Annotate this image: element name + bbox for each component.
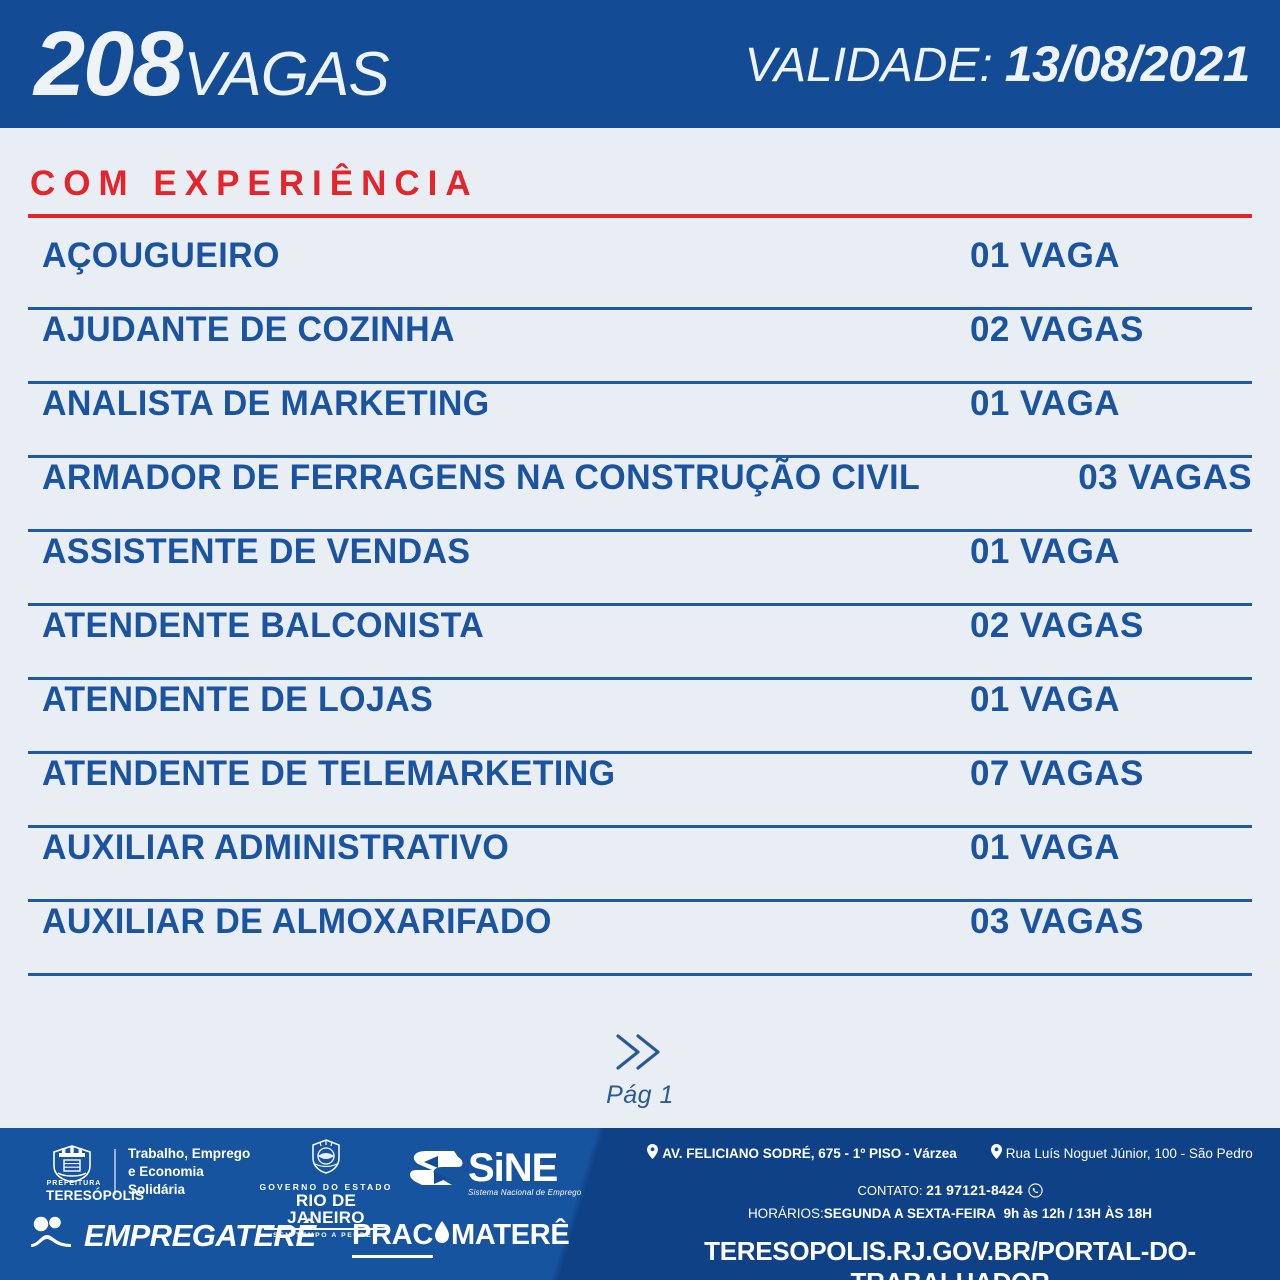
vacancy-job-title: ARMADOR DE FERRAGENS NA CONSTRUÇÃO CIVIL xyxy=(42,458,920,498)
vacancy-row: ANALISTA DE MARKETING01 VAGA xyxy=(28,384,1252,458)
vacancy-row: ASSISTENTE DE VENDAS01 VAGA xyxy=(28,532,1252,606)
address-item-2: Rua Luís Noguet Júnior, 100 - São Pedro xyxy=(991,1144,1253,1162)
contact-number: 21 97121-8424 xyxy=(926,1182,1023,1198)
footer-contact: AV. FELICIANO SODRÉ, 675 - 1º PISO - Vár… xyxy=(620,1128,1280,1280)
department-line-3: Solidária xyxy=(128,1181,250,1199)
hours-times: 9h às 12h / 13H ÀS 18H xyxy=(1003,1206,1152,1221)
practimatere-wordmark: PRAC MATERÊ xyxy=(352,1218,569,1258)
vacancy-count-column: 07 VAGAS xyxy=(952,754,1252,794)
empregatere-mountain-icon xyxy=(28,1216,74,1255)
vacancy-row: ATENDENTE BALCONISTA02 VAGAS xyxy=(28,606,1252,680)
whatsapp-icon[interactable] xyxy=(1028,1186,1043,1201)
vacancy-job-title: ANALISTA DE MARKETING xyxy=(42,384,490,424)
footer-logos: PREFEITURA TERESÓPOLIS Trabalho, Emprego… xyxy=(0,1128,600,1280)
practimatere-brand-group: PRAC MATERÊ xyxy=(352,1218,569,1258)
vacancy-count-column: 02 VAGAS xyxy=(952,310,1252,350)
hours-row: HORÁRIOS:SEGUNDA A SEXTA-FEIRA 9h às 12h… xyxy=(620,1206,1280,1221)
vacancy-count-suffix: VAGAS xyxy=(184,44,389,106)
vacancy-job-title: AUXILIAR DE ALMOXARIFADO xyxy=(42,902,552,942)
sine-word: SiNE xyxy=(468,1148,581,1188)
vacancy-count-column: 03 VAGAS xyxy=(1060,458,1252,498)
vacancy-count-column: 01 VAGA xyxy=(952,680,1252,720)
location-pin-icon xyxy=(647,1144,658,1162)
vacancy-count-value: 01 VAGA xyxy=(952,680,1120,719)
vacancy-count-value: 07 VAGAS xyxy=(952,754,1144,793)
vacancy-job-title: AJUDANTE DE COZINHA xyxy=(42,310,455,350)
validity-date: 13/08/2021 xyxy=(1005,39,1250,89)
vacancy-count-value: 03 VAGAS xyxy=(952,902,1144,941)
vacancy-count: 208 xyxy=(34,18,182,110)
vacancy-row: ATENDENTE DE TELEMARKETING07 VAGAS xyxy=(28,754,1252,828)
sine-wordmark: SiNE Sistema Nacional de Emprego xyxy=(468,1148,581,1197)
vacancy-job-title: ATENDENTE DE LOJAS xyxy=(42,680,433,720)
vacancy-row: AÇOUGUEIRO01 VAGA xyxy=(28,236,1252,310)
address-item-1: AV. FELICIANO SODRÉ, 675 - 1º PISO - Vár… xyxy=(647,1144,957,1162)
vacancy-count-value: 02 VAGAS xyxy=(952,310,1144,349)
vacancy-count-value: 03 VAGAS xyxy=(1060,458,1252,497)
double-chevron-right-icon[interactable] xyxy=(608,1030,672,1079)
address-text-1: AV. FELICIANO SODRÉ, 675 - 1º PISO - Vár… xyxy=(662,1146,957,1161)
prefeitura-brand-group: PREFEITURA TERESÓPOLIS Trabalho, Emprego… xyxy=(46,1140,250,1204)
section-title: COM EXPERIÊNCIA xyxy=(28,164,1252,204)
vacancy-count-value: 02 VAGAS xyxy=(952,606,1144,645)
prefeitura-city-label: TERESÓPOLIS xyxy=(46,1188,102,1203)
department-line-2: e Economia xyxy=(128,1163,250,1181)
rio-de-janeiro-coat-of-arms-icon xyxy=(258,1138,394,1181)
practimatere-part-2: MATERÊ xyxy=(451,1219,570,1252)
poster-content: COM EXPERIÊNCIA AÇOUGUEIRO01 VAGAAJUDANT… xyxy=(0,128,1280,1128)
vacancy-count-column: 01 VAGA xyxy=(952,236,1252,276)
prefeitura-caption: PREFEITURA TERESÓPOLIS xyxy=(46,1180,102,1203)
vacancy-count-value: 01 VAGA xyxy=(952,236,1120,275)
vacancy-count-value: 01 VAGA xyxy=(952,828,1120,867)
vacancy-row: AUXILIAR DE ALMOXARIFADO03 VAGAS xyxy=(28,902,1252,976)
vacancy-poster: 208 VAGAS VALIDADE: 13/08/2021 COM EXPER… xyxy=(0,0,1280,1280)
contact-row: CONTATO: 21 97121-8424 xyxy=(620,1180,1280,1198)
vacancy-row: ARMADOR DE FERRAGENS NA CONSTRUÇÃO CIVIL… xyxy=(28,458,1252,532)
page-label: Pág 1 xyxy=(606,1081,674,1110)
vacancy-count-column: 01 VAGA xyxy=(952,532,1252,572)
water-droplet-icon xyxy=(434,1220,450,1254)
sine-brand-group: SiNE Sistema Nacional de Emprego xyxy=(408,1148,581,1197)
vacancy-job-title: ATENDENTE BALCONISTA xyxy=(42,606,484,646)
contact-label: CONTATO: xyxy=(857,1183,922,1198)
vacancy-job-title: AUXILIAR ADMINISTRATIVO xyxy=(42,828,509,868)
poster-footer: PREFEITURA TERESÓPOLIS Trabalho, Emprego… xyxy=(0,1128,1280,1280)
vacancy-count-column: 01 VAGA xyxy=(952,384,1252,424)
practimatere-part-1: PRAC xyxy=(352,1219,433,1258)
vacancy-row: AUXILIAR ADMINISTRATIVO01 VAGA xyxy=(28,828,1252,902)
vacancy-count-block: 208 VAGAS xyxy=(34,18,389,110)
sine-s-arrow-icon xyxy=(408,1148,464,1197)
pager[interactable]: Pág 1 xyxy=(28,1030,1252,1110)
validity-block: VALIDADE: 13/08/2021 xyxy=(745,39,1250,90)
poster-header: 208 VAGAS VALIDADE: 13/08/2021 xyxy=(0,0,1280,128)
prefeitura-small-label: PREFEITURA xyxy=(46,1180,102,1187)
address-row: AV. FELICIANO SODRÉ, 675 - 1º PISO - Vár… xyxy=(620,1144,1280,1162)
department-line-1: Trabalho, Emprego xyxy=(128,1145,250,1163)
vacancy-job-title: ATENDENTE DE TELEMARKETING xyxy=(42,754,615,794)
hours-days: SEGUNDA A SEXTA-FEIRA xyxy=(824,1206,996,1221)
vacancy-list: AÇOUGUEIRO01 VAGAAJUDANTE DE COZINHA02 V… xyxy=(28,236,1252,976)
hours-label: HORÁRIOS: xyxy=(748,1206,824,1221)
vacancy-count-column: 03 VAGAS xyxy=(952,902,1252,942)
vacancy-count-column: 01 VAGA xyxy=(952,828,1252,868)
sine-tagline: Sistema Nacional de Emprego xyxy=(468,1189,581,1197)
vacancy-job-title: ASSISTENTE DE VENDAS xyxy=(42,532,470,572)
empregatere-brand-group: EMPREGATERÊ xyxy=(28,1216,316,1255)
location-pin-icon xyxy=(991,1144,1002,1162)
vacancy-count-value: 01 VAGA xyxy=(952,532,1120,571)
vacancy-job-title: AÇOUGUEIRO xyxy=(42,236,280,276)
vacancy-row: ATENDENTE DE LOJAS01 VAGA xyxy=(28,680,1252,754)
vacancy-count-value: 01 VAGA xyxy=(952,384,1120,423)
vacancy-row: AJUDANTE DE COZINHA02 VAGAS xyxy=(28,310,1252,384)
department-name: Trabalho, Emprego e Economia Solidária xyxy=(128,1145,250,1198)
website-url[interactable]: TERESOPOLIS.RJ.GOV.BR/PORTAL-DO-TRABALHA… xyxy=(620,1236,1280,1280)
vacancy-count-column: 02 VAGAS xyxy=(952,606,1252,646)
section-divider xyxy=(28,214,1252,218)
address-text-2: Rua Luís Noguet Júnior, 100 - São Pedro xyxy=(1006,1146,1253,1161)
empregatere-word: EMPREGATERÊ xyxy=(84,1218,316,1254)
validity-label: VALIDADE: xyxy=(745,42,993,90)
section-header: COM EXPERIÊNCIA xyxy=(28,128,1252,218)
